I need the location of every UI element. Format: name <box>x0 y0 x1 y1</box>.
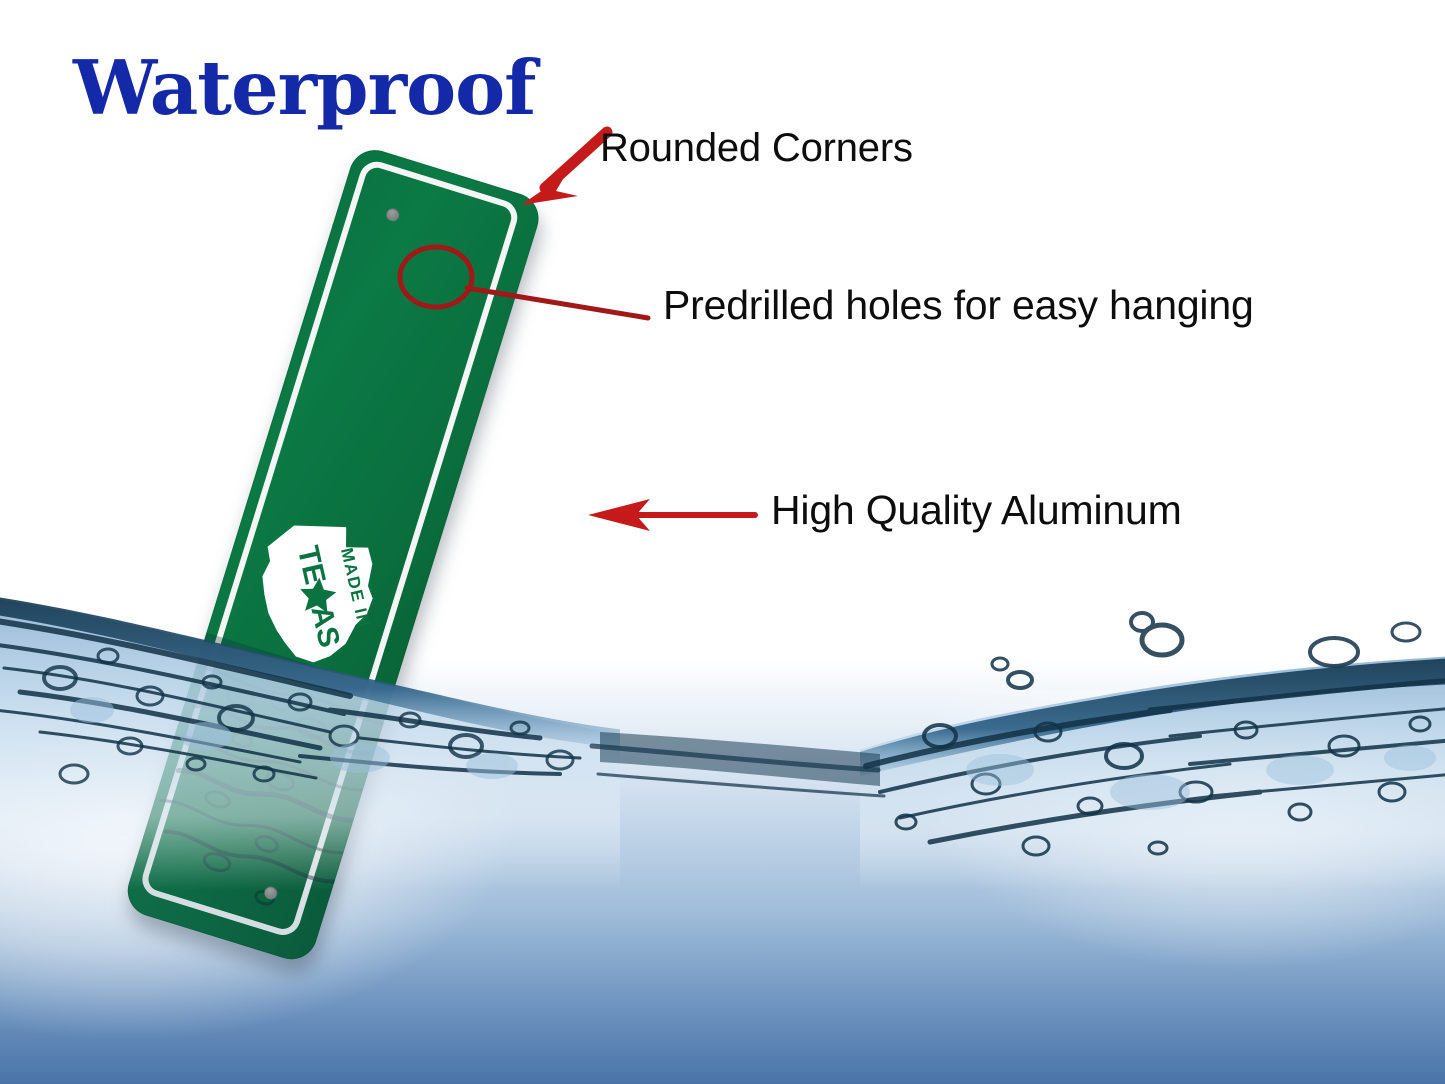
callout-label-rounded-corners: Rounded Corners <box>600 126 913 171</box>
arrow-icon-aluminum <box>588 499 755 531</box>
infographic-canvas: MADE IN TE AS <box>0 0 1445 1084</box>
arrow-icon-rounded-corners <box>521 132 607 205</box>
page-title: Waterproof <box>73 44 535 132</box>
water-surface <box>0 560 1445 890</box>
callout-label-high-quality-aluminum: High Quality Aluminum <box>771 487 1182 534</box>
callout-label-predrilled-holes: Predrilled holes for easy hanging <box>663 282 1254 329</box>
